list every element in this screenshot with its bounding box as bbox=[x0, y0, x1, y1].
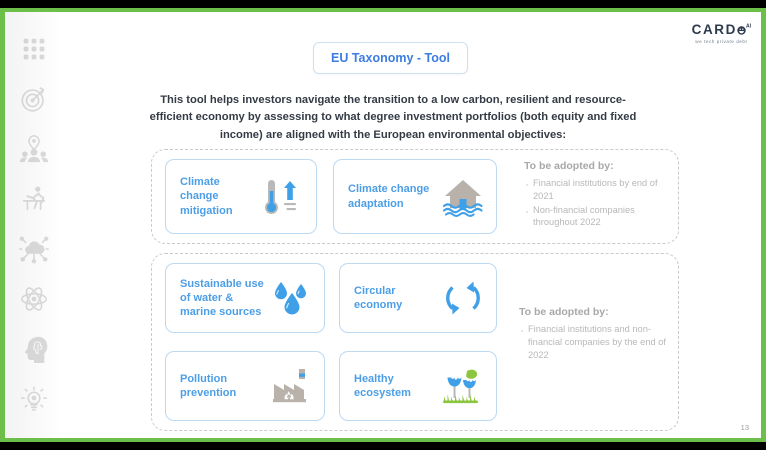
sidebar bbox=[5, 12, 63, 438]
objective-card-label: Climate change mitigation bbox=[180, 175, 260, 217]
objective-card-circular-economy[interactable]: Circular economy bbox=[339, 263, 497, 333]
objective-card-healthy-ecosystem[interactable]: Healthy ecosystem bbox=[339, 351, 497, 421]
layers-icon[interactable] bbox=[19, 434, 49, 438]
adopted-by-list: Financial institutions by end of 2021 No… bbox=[524, 177, 674, 229]
slide: CARDAI we tech private debt EU Taxonomy … bbox=[5, 12, 761, 438]
objective-card-label: Pollution prevention bbox=[180, 372, 268, 400]
page-title: EU Taxonomy - Tool bbox=[313, 42, 468, 74]
objective-card-label: Climate change adaptation bbox=[348, 182, 440, 210]
adopted-by-list: Financial institutions and non-financial… bbox=[519, 323, 669, 361]
objective-card-label: Circular economy bbox=[354, 284, 440, 312]
thermometer-arrow-up-icon bbox=[260, 175, 306, 219]
page-number: 13 bbox=[741, 423, 749, 432]
logo-wordmark: CARDAI bbox=[692, 22, 751, 38]
cardo-logo: CARDAI we tech private debt bbox=[692, 22, 751, 45]
lightbulb-icon[interactable] bbox=[19, 384, 49, 414]
adopted-by-title: To be adopted by: bbox=[519, 306, 669, 318]
adopted-by-block-2: To be adopted by: Financial institutions… bbox=[519, 306, 669, 362]
logo-tagline: we tech private debt bbox=[692, 40, 751, 45]
intro-paragraph: This tool helps investors navigate the t… bbox=[143, 92, 643, 144]
slide-frame: CARDAI we tech private debt EU Taxonomy … bbox=[0, 8, 766, 442]
objective-card-sustainable-water[interactable]: Sustainable use of water & marine source… bbox=[165, 263, 325, 333]
atom-icon[interactable] bbox=[19, 284, 49, 314]
recycle-arrows-icon bbox=[440, 276, 486, 320]
objective-card-climate-change-mitigation[interactable]: Climate change mitigation bbox=[165, 159, 317, 234]
network-cloud-icon[interactable] bbox=[19, 234, 49, 264]
page-title-text: EU Taxonomy - Tool bbox=[331, 51, 450, 65]
adopted-by-block-1: To be adopted by: Financial institutions… bbox=[524, 160, 674, 230]
adopted-by-item: Financial institutions and non-financial… bbox=[519, 323, 669, 361]
people-location-icon[interactable] bbox=[19, 134, 49, 164]
flooded-house-icon bbox=[440, 175, 486, 219]
hurdle-runner-icon[interactable] bbox=[19, 184, 49, 214]
water-drops-icon bbox=[268, 276, 314, 320]
logo-smiley-icon bbox=[737, 23, 746, 32]
brain-head-icon[interactable] bbox=[19, 334, 49, 364]
target-icon[interactable] bbox=[19, 84, 49, 114]
objective-card-label: Healthy ecosystem bbox=[354, 372, 440, 400]
objective-card-climate-change-adaptation[interactable]: Climate change adaptation bbox=[333, 159, 497, 234]
objective-card-label: Sustainable use of water & marine source… bbox=[180, 277, 268, 319]
adopted-by-title: To be adopted by: bbox=[524, 160, 674, 172]
tulips-grass-icon bbox=[440, 364, 486, 408]
grid-dots-icon[interactable] bbox=[19, 34, 49, 64]
adopted-by-item: Financial institutions by end of 2021 bbox=[524, 177, 674, 203]
adopted-by-item: Non-financial companies throughout 2022 bbox=[524, 204, 674, 230]
factory-recycle-icon bbox=[268, 364, 314, 408]
objective-card-pollution-prevention[interactable]: Pollution prevention bbox=[165, 351, 325, 421]
